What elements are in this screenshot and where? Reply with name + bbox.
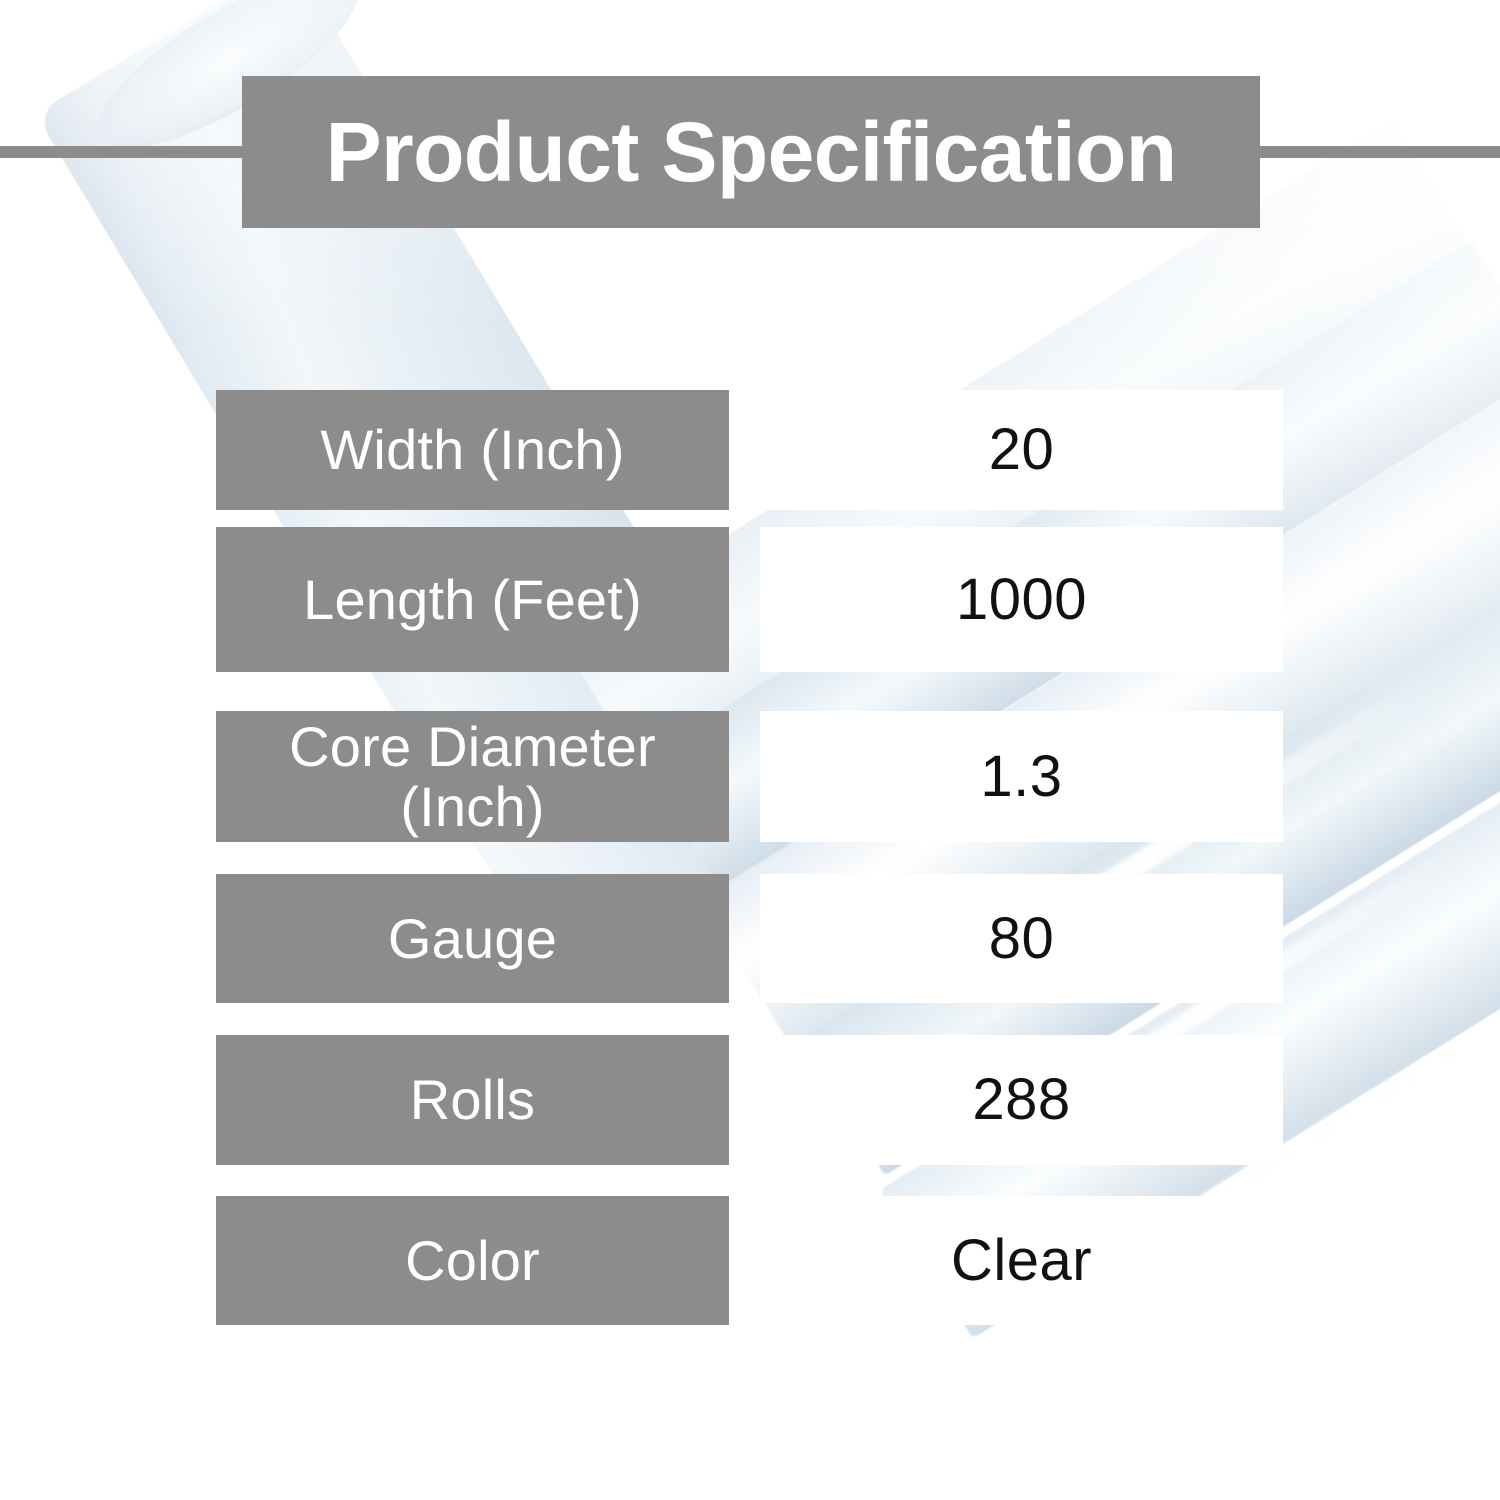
spec-label-cell: Rolls xyxy=(216,1035,729,1165)
spec-label-text: Color xyxy=(405,1231,540,1290)
spec-value-text: Clear xyxy=(951,1232,1092,1290)
spec-label-text: Gauge xyxy=(388,909,557,968)
spec-value-text: 288 xyxy=(972,1071,1070,1129)
spec-label-cell: Width (Inch) xyxy=(216,390,729,510)
spec-value-text: 1000 xyxy=(956,571,1087,629)
table-row: Length (Feet) 1000 xyxy=(0,527,1500,672)
spec-label-text: Rolls xyxy=(410,1070,535,1129)
table-row: Color Clear xyxy=(0,1196,1500,1325)
spec-value-text: 20 xyxy=(989,421,1055,479)
table-row: Gauge 80 xyxy=(0,874,1500,1003)
spec-table: Width (Inch) 20 Length (Feet) 1000 Core … xyxy=(0,0,1500,1500)
spec-value-cell: Clear xyxy=(760,1196,1283,1325)
spec-value-text: 80 xyxy=(989,910,1055,968)
table-row: Rolls 288 xyxy=(0,1035,1500,1165)
infographic-canvas: Product Specification Width (Inch) 20 Le… xyxy=(0,0,1500,1500)
spec-value-cell: 1000 xyxy=(760,527,1283,672)
spec-label-text: Width (Inch) xyxy=(320,420,624,479)
table-row: Width (Inch) 20 xyxy=(0,390,1500,510)
spec-label-cell: Color xyxy=(216,1196,729,1325)
spec-label-cell: Length (Feet) xyxy=(216,527,729,672)
table-row: Core Diameter(Inch) 1.3 xyxy=(0,711,1500,842)
spec-label-text: Length (Feet) xyxy=(303,570,642,629)
spec-value-cell: 1.3 xyxy=(760,711,1283,842)
spec-value-cell: 288 xyxy=(760,1035,1283,1165)
spec-label-cell: Core Diameter(Inch) xyxy=(216,711,729,842)
spec-value-cell: 80 xyxy=(760,874,1283,1003)
spec-value-cell: 20 xyxy=(760,390,1283,510)
spec-value-text: 1.3 xyxy=(980,748,1062,806)
spec-label-text: Core Diameter(Inch) xyxy=(289,717,656,836)
spec-label-cell: Gauge xyxy=(216,874,729,1003)
